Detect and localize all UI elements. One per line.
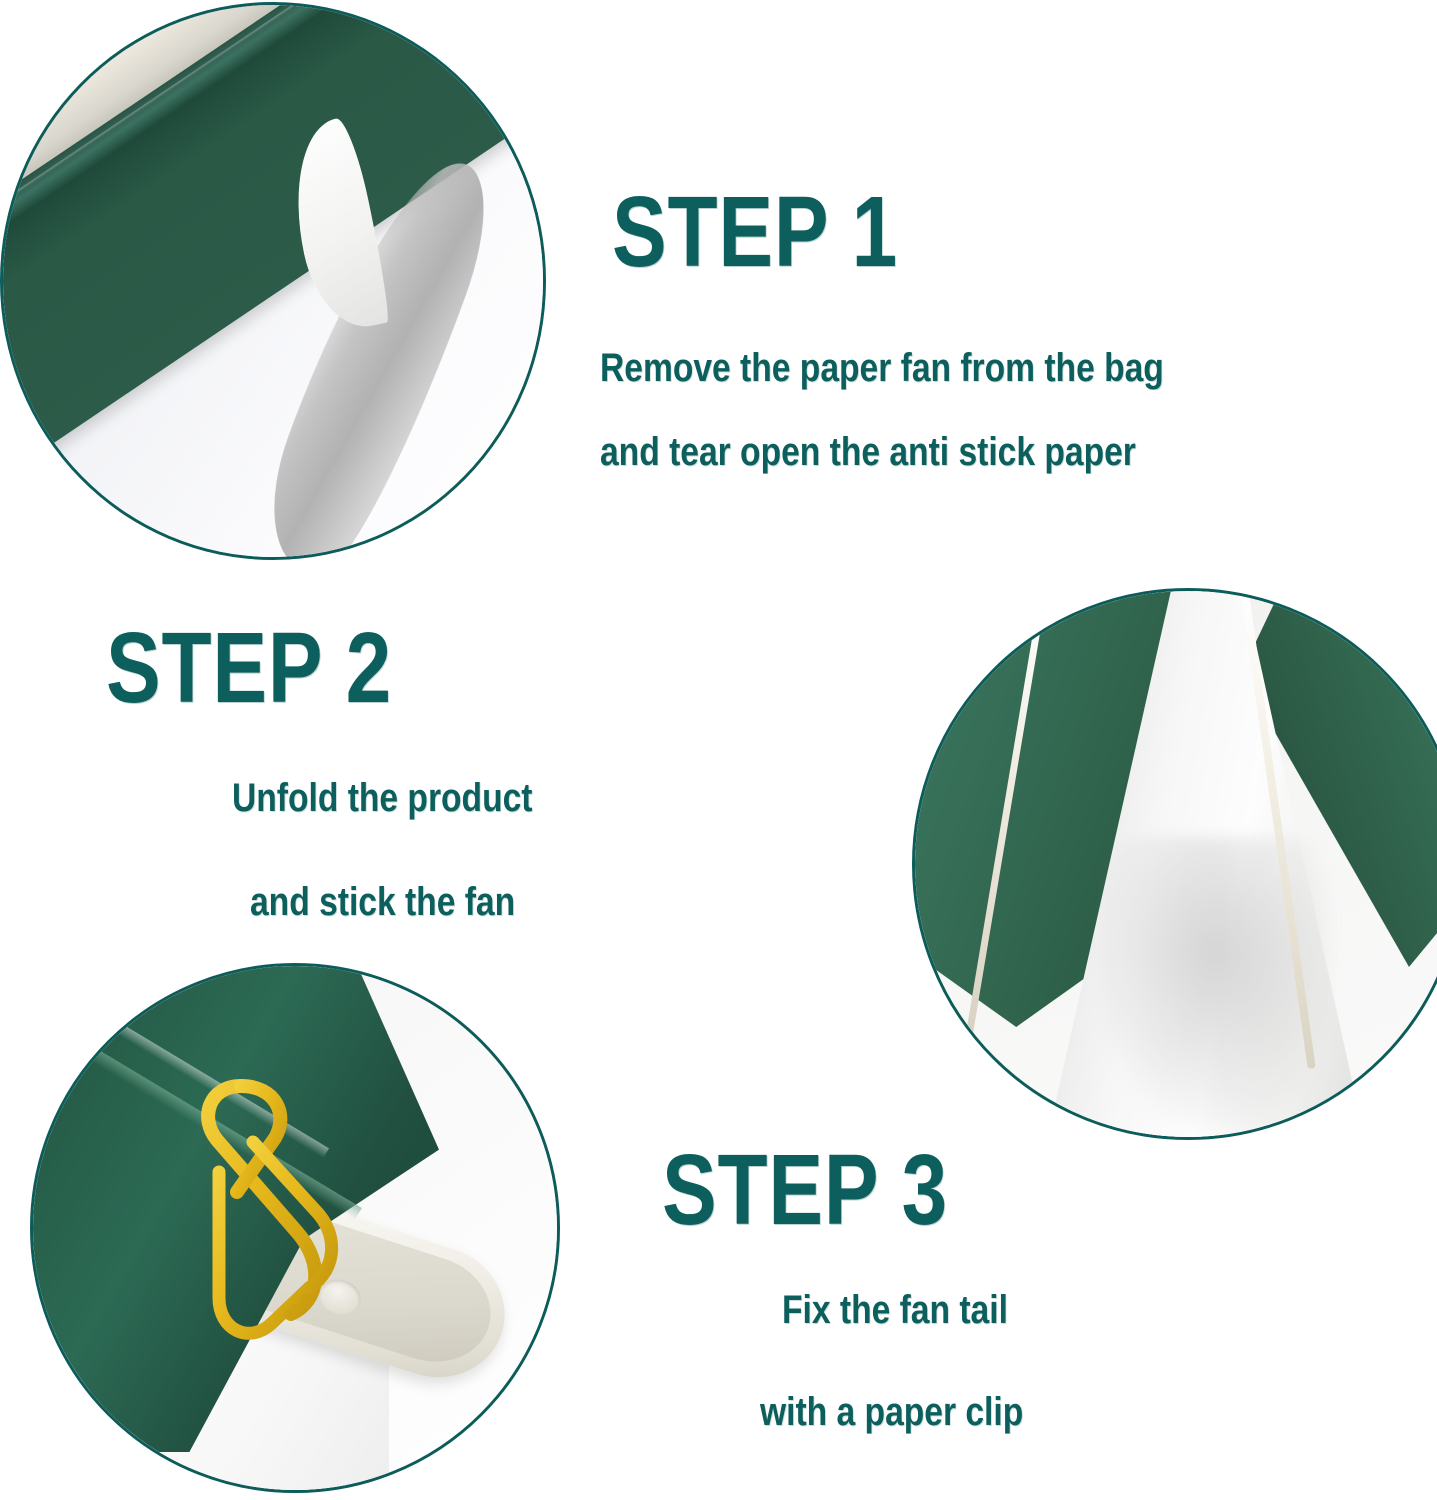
step-3-line-2: with a paper clip: [760, 1392, 1023, 1432]
step-1-title: STEP 1: [612, 182, 898, 282]
step-2-photo: [912, 588, 1437, 1140]
paper-clip-icon: [179, 1062, 439, 1392]
step-2-title: STEP 2: [106, 618, 392, 718]
step-1-line-1: Remove the paper fan from the bag: [600, 348, 1164, 388]
paper-clip-svg: [179, 1062, 439, 1392]
step-1-photo: [0, 2, 546, 560]
step-2-line-1: Unfold the product: [232, 778, 532, 818]
step-3-title: STEP 3: [662, 1140, 948, 1240]
step-1-line-2: and tear open the anti stick paper: [600, 432, 1136, 472]
instruction-graphic: STEP 1 Remove the paper fan from the bag…: [0, 0, 1437, 1500]
step-3-photo: [30, 963, 560, 1493]
step-2-line-2: and stick the fan: [250, 882, 515, 922]
step-3-line-1: Fix the fan tail: [782, 1290, 1008, 1330]
